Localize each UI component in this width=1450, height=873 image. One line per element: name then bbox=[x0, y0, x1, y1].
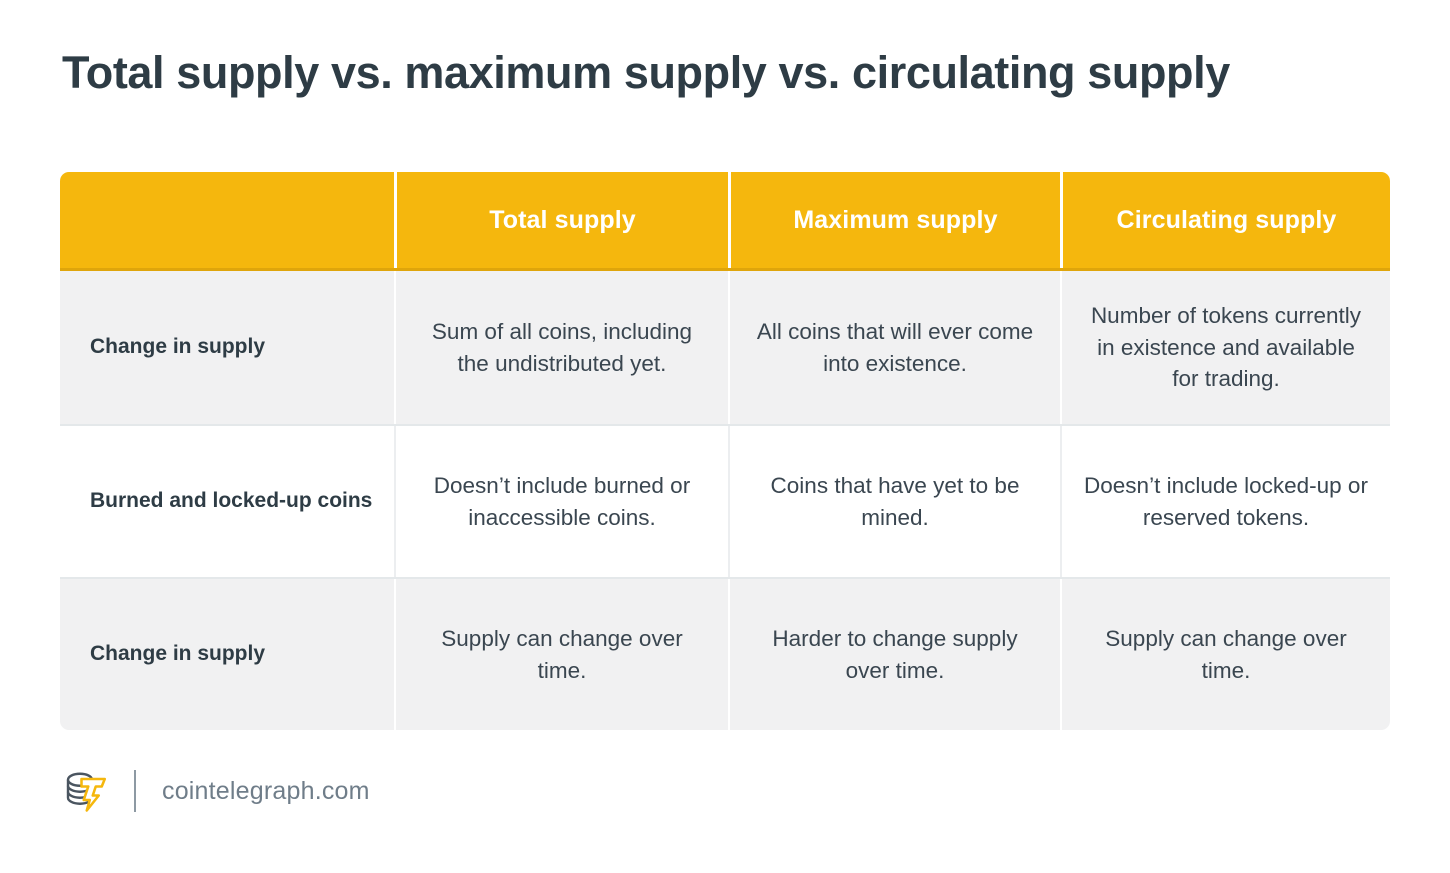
table-row: Burned and locked-up coins Doesn’t inclu… bbox=[60, 424, 1390, 577]
row-label: Burned and locked-up coins bbox=[60, 426, 394, 577]
row-label: Change in supply bbox=[60, 579, 394, 730]
row-cell-text: Coins that have yet to be mined. bbox=[752, 470, 1038, 534]
row-cell-text: Number of tokens currently in existence … bbox=[1084, 300, 1368, 396]
row-cell-text: Supply can change over time. bbox=[1084, 623, 1368, 687]
row-label-text: Change in supply bbox=[90, 640, 376, 669]
row-cell-circulating-supply: Doesn’t include locked-up or reserved to… bbox=[1060, 426, 1390, 577]
row-cell-maximum-supply: Harder to change supply over time. bbox=[728, 579, 1060, 730]
row-cell-total-supply: Supply can change over time. bbox=[394, 579, 728, 730]
comparison-table: Total supply Maximum supply Circulating … bbox=[60, 172, 1390, 730]
row-cell-text: Supply can change over time. bbox=[418, 623, 706, 687]
row-cell-total-supply: Doesn’t include burned or inaccessible c… bbox=[394, 426, 728, 577]
row-label: Change in supply bbox=[60, 271, 394, 424]
row-cell-text: All coins that will ever come into exist… bbox=[752, 316, 1038, 380]
footer-divider bbox=[134, 770, 136, 812]
row-cell-text: Sum of all coins, including the undistri… bbox=[418, 316, 706, 380]
table-header-cell-circulating-supply: Circulating supply bbox=[1060, 172, 1390, 268]
cointelegraph-logo-icon bbox=[62, 767, 110, 815]
table-header-cell-maximum-supply: Maximum supply bbox=[728, 172, 1060, 268]
row-cell-maximum-supply: All coins that will ever come into exist… bbox=[728, 271, 1060, 424]
row-cell-circulating-supply: Number of tokens currently in existence … bbox=[1060, 271, 1390, 424]
row-label-text: Burned and locked-up coins bbox=[90, 487, 376, 516]
row-cell-maximum-supply: Coins that have yet to be mined. bbox=[728, 426, 1060, 577]
row-label-text: Change in supply bbox=[90, 333, 376, 362]
page-title: Total supply vs. maximum supply vs. circ… bbox=[62, 46, 1392, 99]
row-cell-text: Doesn’t include burned or inaccessible c… bbox=[418, 470, 706, 534]
infographic-page: Total supply vs. maximum supply vs. circ… bbox=[0, 0, 1450, 873]
footer-branding: cointelegraph.com bbox=[62, 760, 370, 822]
row-cell-circulating-supply: Supply can change over time. bbox=[1060, 579, 1390, 730]
row-cell-text: Doesn’t include locked-up or reserved to… bbox=[1084, 470, 1368, 534]
row-cell-text: Harder to change supply over time. bbox=[752, 623, 1038, 687]
footer-site-url: cointelegraph.com bbox=[162, 777, 370, 806]
table-header-cell-total-supply: Total supply bbox=[394, 172, 728, 268]
row-cell-total-supply: Sum of all coins, including the undistri… bbox=[394, 271, 728, 424]
table-header-cell-blank bbox=[60, 172, 394, 268]
table-header-row: Total supply Maximum supply Circulating … bbox=[60, 172, 1390, 271]
table-row: Change in supply Sum of all coins, inclu… bbox=[60, 271, 1390, 424]
table-row: Change in supply Supply can change over … bbox=[60, 577, 1390, 730]
